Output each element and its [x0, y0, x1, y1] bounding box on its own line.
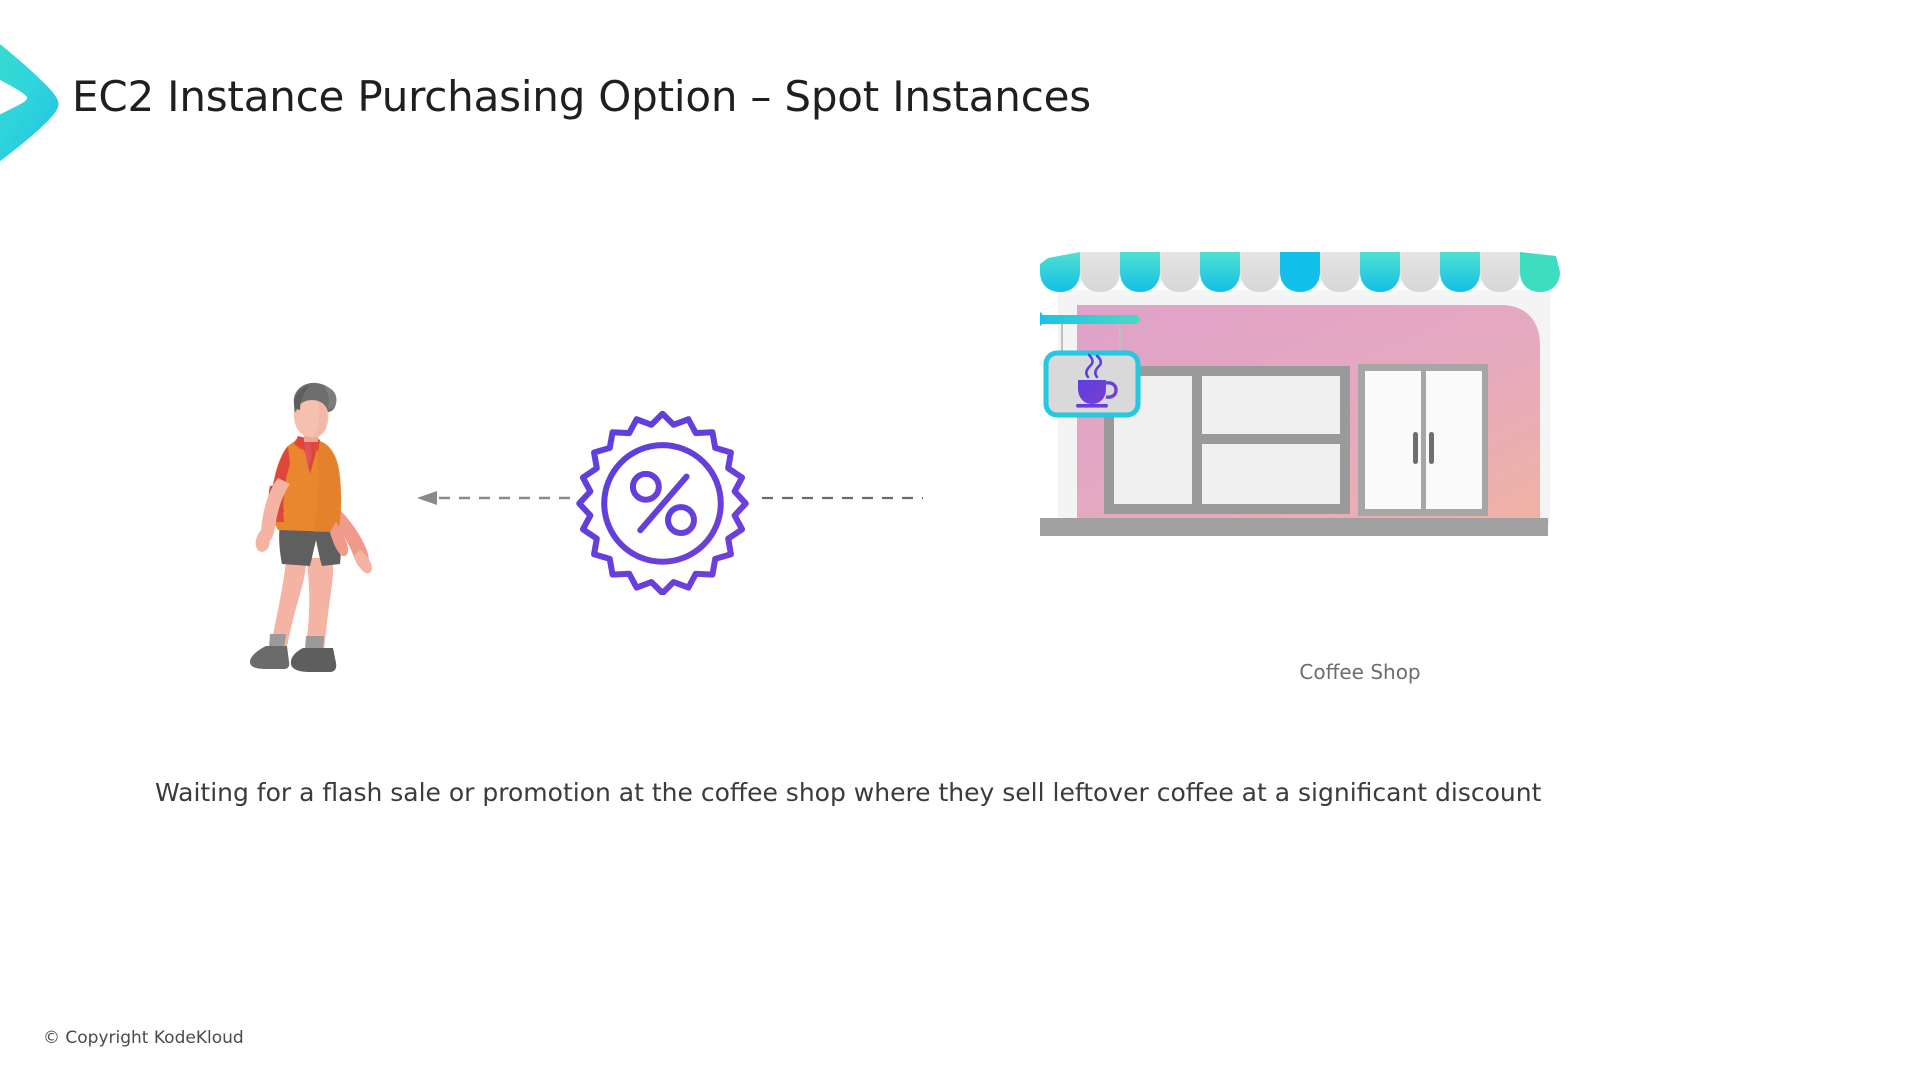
- slide-canvas: EC2 Instance Purchasing Option – Spot In…: [0, 0, 1920, 1080]
- chevron-logo-icon: [0, 18, 66, 183]
- page-title: EC2 Instance Purchasing Option – Spot In…: [72, 72, 1091, 121]
- coffee-shop-label: Coffee Shop: [1040, 660, 1680, 684]
- flow-arrow-left: [415, 487, 575, 509]
- flow-arrow-right: [760, 487, 925, 509]
- coffee-shop-illustration: [1040, 250, 1680, 670]
- discount-badge-icon: [570, 410, 755, 595]
- copyright-notice: © Copyright KodeKloud: [43, 1028, 244, 1048]
- walking-person-illustration: [248, 382, 383, 672]
- awning: [1040, 252, 1560, 292]
- slide-caption: Waiting for a flash sale or promotion at…: [155, 778, 1541, 807]
